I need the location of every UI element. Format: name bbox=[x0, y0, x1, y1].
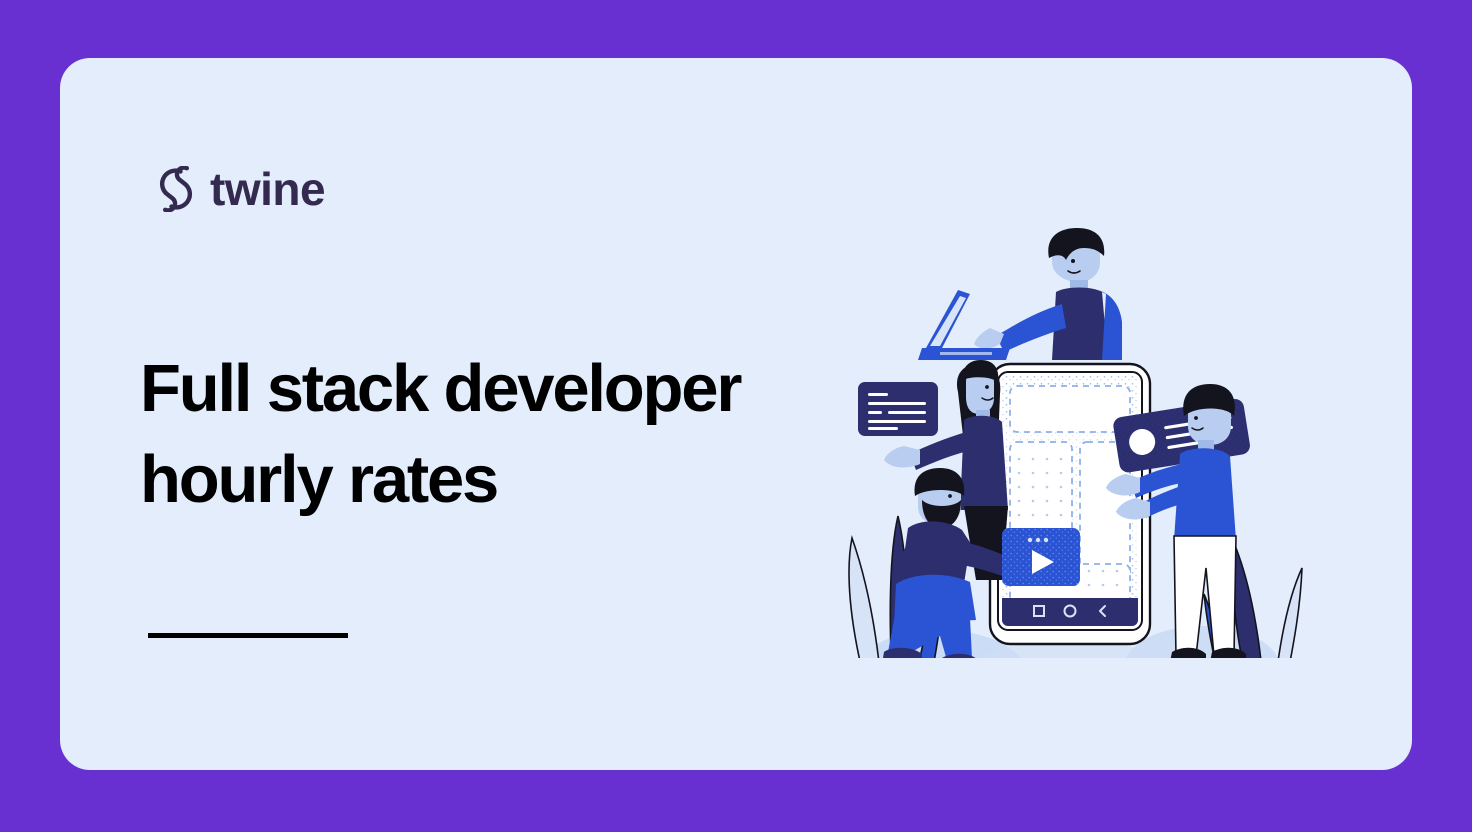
page-title: Full stack developer hourly rates bbox=[140, 343, 820, 525]
brand-wordmark: twine bbox=[210, 166, 325, 212]
title-divider bbox=[148, 633, 348, 638]
message-card bbox=[858, 382, 938, 436]
page-root: twine Full stack developer hourly rates bbox=[0, 0, 1472, 832]
content-card: twine Full stack developer hourly rates bbox=[60, 58, 1412, 770]
video-placeholder-card bbox=[1002, 528, 1080, 586]
ellipsis-icon bbox=[1028, 538, 1048, 542]
twine-knot-logo-icon bbox=[156, 166, 196, 212]
hero-illustration bbox=[830, 228, 1310, 658]
person-with-laptop-on-top bbox=[918, 228, 1122, 360]
brand-logo[interactable]: twine bbox=[156, 166, 325, 212]
